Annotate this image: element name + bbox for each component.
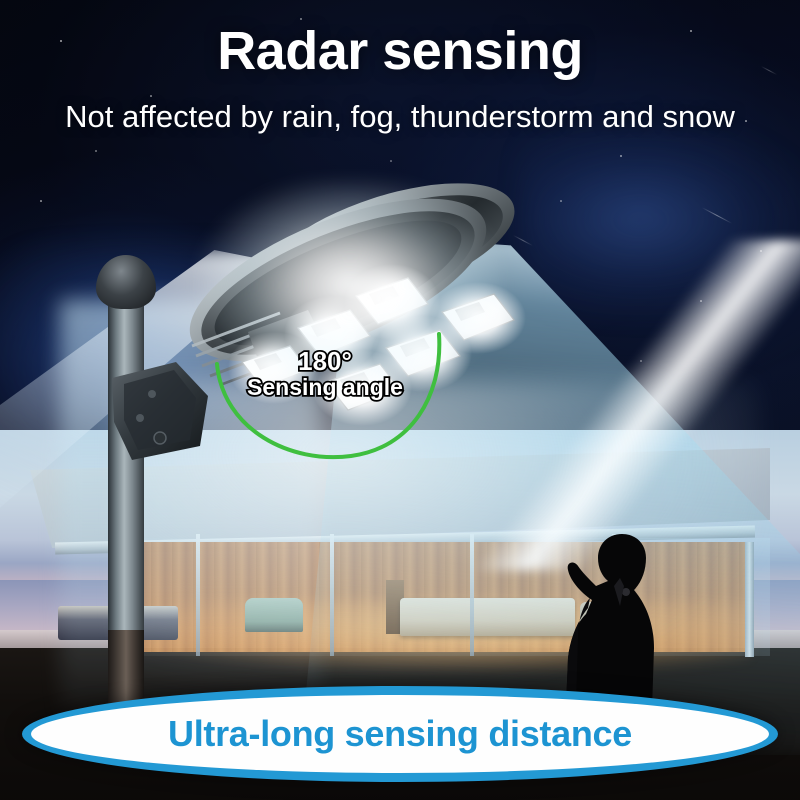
page-title: Radar sensing [0, 24, 800, 78]
sensing-angle-caption: Sensing angle [195, 375, 455, 399]
page-subtitle: Not affected by rain, fog, thunderstorm … [0, 100, 800, 134]
product-feature-image: 180° Sensing angle Radar sensing Not aff… [0, 0, 800, 800]
bottom-banner-text: Ultra-long sensing distance [168, 713, 632, 755]
person-silhouette [548, 528, 688, 713]
sensing-angle-value: 180° [195, 348, 455, 375]
bottom-banner: Ultra-long sensing distance [22, 686, 778, 782]
sensing-angle-label: 180° Sensing angle [195, 348, 455, 399]
